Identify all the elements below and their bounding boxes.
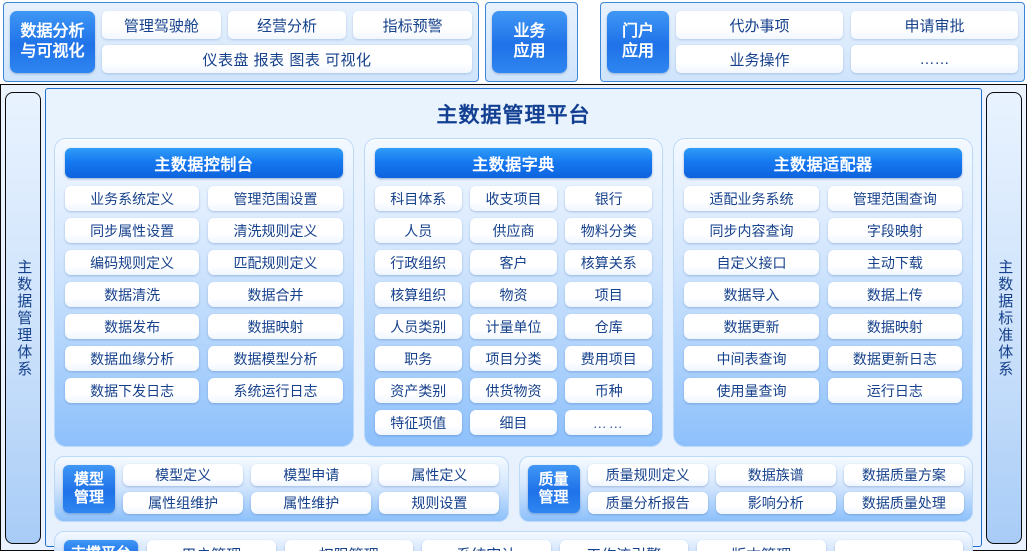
cell-data-mapping-adapter[interactable]: 数据映射 [828, 314, 962, 339]
cell-material[interactable]: 物资 [470, 282, 557, 307]
column-header-console: 主数据控制台 [65, 148, 343, 178]
cell-model-definition[interactable]: 模型定义 [123, 464, 243, 486]
tile-support-platform[interactable]: 支撑平台 [64, 540, 138, 551]
tile-line-2: 与可视化 [20, 42, 84, 62]
cell-customer[interactable]: 客户 [470, 250, 557, 275]
portal-application-items: 代办事项 申请审批 业务操作 …… [676, 11, 1018, 73]
cell-position[interactable]: 职务 [375, 346, 462, 371]
cell-system-run-log[interactable]: 系统运行日志 [208, 378, 342, 403]
tile-line-1: 数据分析 [20, 22, 84, 42]
quality-management-items: 质量规则定义 数据族谱 数据质量方案 质量分析报告 影响分析 数据质量处理 [588, 464, 965, 514]
data-analysis-items: 管理驾驶舱 经营分析 指标预警 仪表盘 报表 图表 可视化 [102, 11, 472, 73]
cell-attribute-group-maintenance[interactable]: 属性组维护 [123, 492, 243, 514]
cell-quality-rule-definition[interactable]: 质量规则定义 [588, 464, 708, 486]
main-frame: 主数据管理体系 主数据标准体系 主数据管理平台 主数据控制台 业务系统定义 管理… [0, 84, 1027, 551]
btn-business-operation[interactable]: 业务操作 [676, 45, 843, 73]
cell-data-merge[interactable]: 数据合并 [208, 282, 342, 307]
panel-quality-management: 质量 管理 质量规则定义 数据族谱 数据质量方案 质量分析报告 影响分析 数据质… [519, 456, 974, 522]
rail-master-data-management-system: 主数据管理体系 [5, 92, 41, 544]
top-group-portal-application: 门户 应用 代办事项 申请审批 业务操作 …… [600, 2, 1025, 82]
cell-custom-interface[interactable]: 自定义接口 [684, 250, 818, 275]
cell-accounting-organization[interactable]: 核算组织 [375, 282, 462, 307]
cell-supplied-material[interactable]: 供货物资 [470, 378, 557, 403]
cell-impact-analysis[interactable]: 影响分析 [716, 492, 836, 514]
cell-model-application[interactable]: 模型申请 [251, 464, 371, 486]
cell-material-category[interactable]: 物料分类 [565, 218, 652, 243]
cell-matching-rule-definition[interactable]: 匹配规则定义 [208, 250, 342, 275]
cell-warehouse[interactable]: 仓库 [565, 314, 652, 339]
model-quality-row: 模型 管理 模型定义 模型申请 属性定义 属性组维护 属性维护 规则设置 质量 [54, 456, 973, 522]
tile-portal-application[interactable]: 门户 应用 [607, 11, 669, 73]
cell-data-import[interactable]: 数据导入 [684, 282, 818, 307]
cell-bank[interactable]: 银行 [565, 186, 652, 211]
tile-line-2: 管理 [538, 489, 568, 507]
tile-line-1: 质量 [538, 471, 568, 489]
cell-data-publish[interactable]: 数据发布 [65, 314, 199, 339]
model-management-items: 模型定义 模型申请 属性定义 属性组维护 属性维护 规则设置 [123, 464, 500, 514]
cell-supplier[interactable]: 供应商 [470, 218, 557, 243]
column-header-adapter: 主数据适配器 [684, 148, 962, 178]
adapter-items: 适配业务系统 管理范围查询 同步内容查询 字段映射 自定义接口 主动下载 数据导… [684, 186, 962, 403]
column-master-data-dictionary: 主数据字典 科目体系 收支项目 银行 人员 供应商 物料分类 行政组织 客户 核… [364, 138, 664, 447]
cell-attribute-maintenance[interactable]: 属性维护 [251, 492, 371, 514]
tile-line-2: 管理 [74, 489, 104, 507]
tile-line-2: 应用 [622, 42, 654, 62]
btn-dashboard-report-chart-visualization[interactable]: 仪表盘 报表 图表 可视化 [102, 45, 472, 73]
cell-intermediate-table-query[interactable]: 中间表查询 [684, 346, 818, 371]
rail-left-label: 主数据管理体系 [15, 259, 32, 378]
master-data-management-platform: 主数据管理平台 主数据控制台 业务系统定义 管理范围设置 同步属性设置 清洗规则… [45, 88, 982, 547]
cell-more-support[interactable]: …… [835, 540, 964, 551]
tile-line-2: 应用 [513, 42, 545, 62]
top-application-bar: 数据分析 与可视化 管理驾驶舱 经营分析 指标预警 仪表盘 报表 图表 可视化 … [0, 0, 1027, 84]
tile-quality-management[interactable]: 质量 管理 [528, 465, 580, 513]
btn-management-cockpit[interactable]: 管理驾驶舱 [102, 11, 221, 39]
cell-active-download[interactable]: 主动下载 [828, 250, 962, 275]
cell-data-cleaning[interactable]: 数据清洗 [65, 282, 199, 307]
btn-business-analysis[interactable]: 经营分析 [228, 11, 347, 39]
data-analysis-row-2: 仪表盘 报表 图表 可视化 [102, 45, 472, 73]
cell-business-system-definition[interactable]: 业务系统定义 [65, 186, 199, 211]
cell-account-system[interactable]: 科目体系 [375, 186, 462, 211]
cell-attribute-definition[interactable]: 属性定义 [379, 464, 499, 486]
cell-usage-query[interactable]: 使用量查询 [684, 378, 818, 403]
cell-system-audit[interactable]: 系统审计 [422, 540, 551, 551]
diagram-root: 数据分析 与可视化 管理驾驶舱 经营分析 指标预警 仪表盘 报表 图表 可视化 … [0, 0, 1027, 551]
top-group-data-analysis: 数据分析 与可视化 管理驾驶舱 经营分析 指标预警 仪表盘 报表 图表 可视化 [3, 2, 479, 82]
cell-project-category[interactable]: 项目分类 [470, 346, 557, 371]
column-master-data-adapter: 主数据适配器 适配业务系统 管理范围查询 同步内容查询 字段映射 自定义接口 主… [673, 138, 973, 447]
cell-expense-item[interactable]: 费用项目 [565, 346, 652, 371]
btn-indicator-warning[interactable]: 指标预警 [353, 11, 472, 39]
cell-quality-analysis-report[interactable]: 质量分析报告 [588, 492, 708, 514]
cell-measurement-unit[interactable]: 计量单位 [470, 314, 557, 339]
dictionary-items: 科目体系 收支项目 银行 人员 供应商 物料分类 行政组织 客户 核算关系 核算… [375, 186, 653, 435]
cell-accounting-relationship[interactable]: 核算关系 [565, 250, 652, 275]
column-header-dictionary: 主数据字典 [375, 148, 653, 178]
top-group-business-application: 业务 应用 [485, 2, 578, 82]
cell-data-update-log[interactable]: 数据更新日志 [828, 346, 962, 371]
cell-data-genealogy[interactable]: 数据族谱 [716, 464, 836, 486]
btn-more-portal[interactable]: …… [851, 45, 1018, 73]
column-master-data-console: 主数据控制台 业务系统定义 管理范围设置 同步属性设置 清洗规则定义 编码规则定… [54, 138, 354, 447]
cell-management-scope-query[interactable]: 管理范围查询 [828, 186, 962, 211]
cell-data-update[interactable]: 数据更新 [684, 314, 818, 339]
cell-data-model-analysis[interactable]: 数据模型分析 [208, 346, 342, 371]
page-title: 主数据管理平台 [54, 99, 973, 129]
cell-asset-category[interactable]: 资产类别 [375, 378, 462, 403]
cell-feature-item-value[interactable]: 特征项值 [375, 410, 462, 435]
cell-sync-attribute-setting[interactable]: 同步属性设置 [65, 218, 199, 243]
cell-project[interactable]: 项目 [565, 282, 652, 307]
cell-coding-rule-definition[interactable]: 编码规则定义 [65, 250, 199, 275]
support-platform-row: 支撑平台 用户管理 权限管理 系统审计 工作流引擎 版本管理 …… [54, 531, 973, 551]
cell-data-distribution-log[interactable]: 数据下发日志 [65, 378, 199, 403]
btn-pending-items[interactable]: 代办事项 [676, 11, 843, 39]
panel-model-management: 模型 管理 模型定义 模型申请 属性定义 属性组维护 属性维护 规则设置 [54, 456, 509, 522]
cell-detail-item[interactable]: 细目 [470, 410, 557, 435]
btn-application-approval[interactable]: 申请审批 [851, 11, 1018, 39]
tile-business-application[interactable]: 业务 应用 [492, 11, 567, 73]
cell-data-quality-processing[interactable]: 数据质量处理 [844, 492, 964, 514]
data-analysis-row-1: 管理驾驶舱 经营分析 指标预警 [102, 11, 472, 39]
cell-adapt-business-system[interactable]: 适配业务系统 [684, 186, 818, 211]
tile-model-management[interactable]: 模型 管理 [63, 465, 115, 513]
cell-data-upload[interactable]: 数据上传 [828, 282, 962, 307]
cell-income-expense-item[interactable]: 收支项目 [470, 186, 557, 211]
tile-data-analysis-visualization[interactable]: 数据分析 与可视化 [10, 11, 95, 73]
cell-workflow-engine[interactable]: 工作流引擎 [560, 540, 689, 551]
cell-data-quality-plan[interactable]: 数据质量方案 [844, 464, 964, 486]
cell-permission-management[interactable]: 权限管理 [285, 540, 414, 551]
rail-master-data-standard-system: 主数据标准体系 [986, 92, 1022, 544]
cell-field-mapping[interactable]: 字段映射 [828, 218, 962, 243]
cell-sync-content-query[interactable]: 同步内容查询 [684, 218, 818, 243]
tile-line-1: 门户 [622, 22, 654, 42]
cell-run-log[interactable]: 运行日志 [828, 378, 962, 403]
console-items: 业务系统定义 管理范围设置 同步属性设置 清洗规则定义 编码规则定义 匹配规则定… [65, 186, 343, 403]
cell-version-management[interactable]: 版本管理 [697, 540, 826, 551]
rail-right-label: 主数据标准体系 [996, 259, 1013, 378]
cell-personnel-category[interactable]: 人员类别 [375, 314, 462, 339]
cell-personnel[interactable]: 人员 [375, 218, 462, 243]
cell-data-mapping[interactable]: 数据映射 [208, 314, 342, 339]
cell-management-scope-setting[interactable]: 管理范围设置 [208, 186, 342, 211]
tile-line-1: 模型 [74, 471, 104, 489]
cell-user-management[interactable]: 用户管理 [147, 540, 276, 551]
cell-rule-setting[interactable]: 规则设置 [379, 492, 499, 514]
cell-data-lineage-analysis[interactable]: 数据血缘分析 [65, 346, 199, 371]
cell-cleaning-rule-definition[interactable]: 清洗规则定义 [208, 218, 342, 243]
platform-columns: 主数据控制台 业务系统定义 管理范围设置 同步属性设置 清洗规则定义 编码规则定… [54, 138, 973, 447]
cell-administrative-organization[interactable]: 行政组织 [375, 250, 462, 275]
cell-more-dictionary[interactable]: …… [565, 410, 652, 435]
cell-currency[interactable]: 币种 [565, 378, 652, 403]
tile-line-1: 业务 [513, 22, 545, 42]
